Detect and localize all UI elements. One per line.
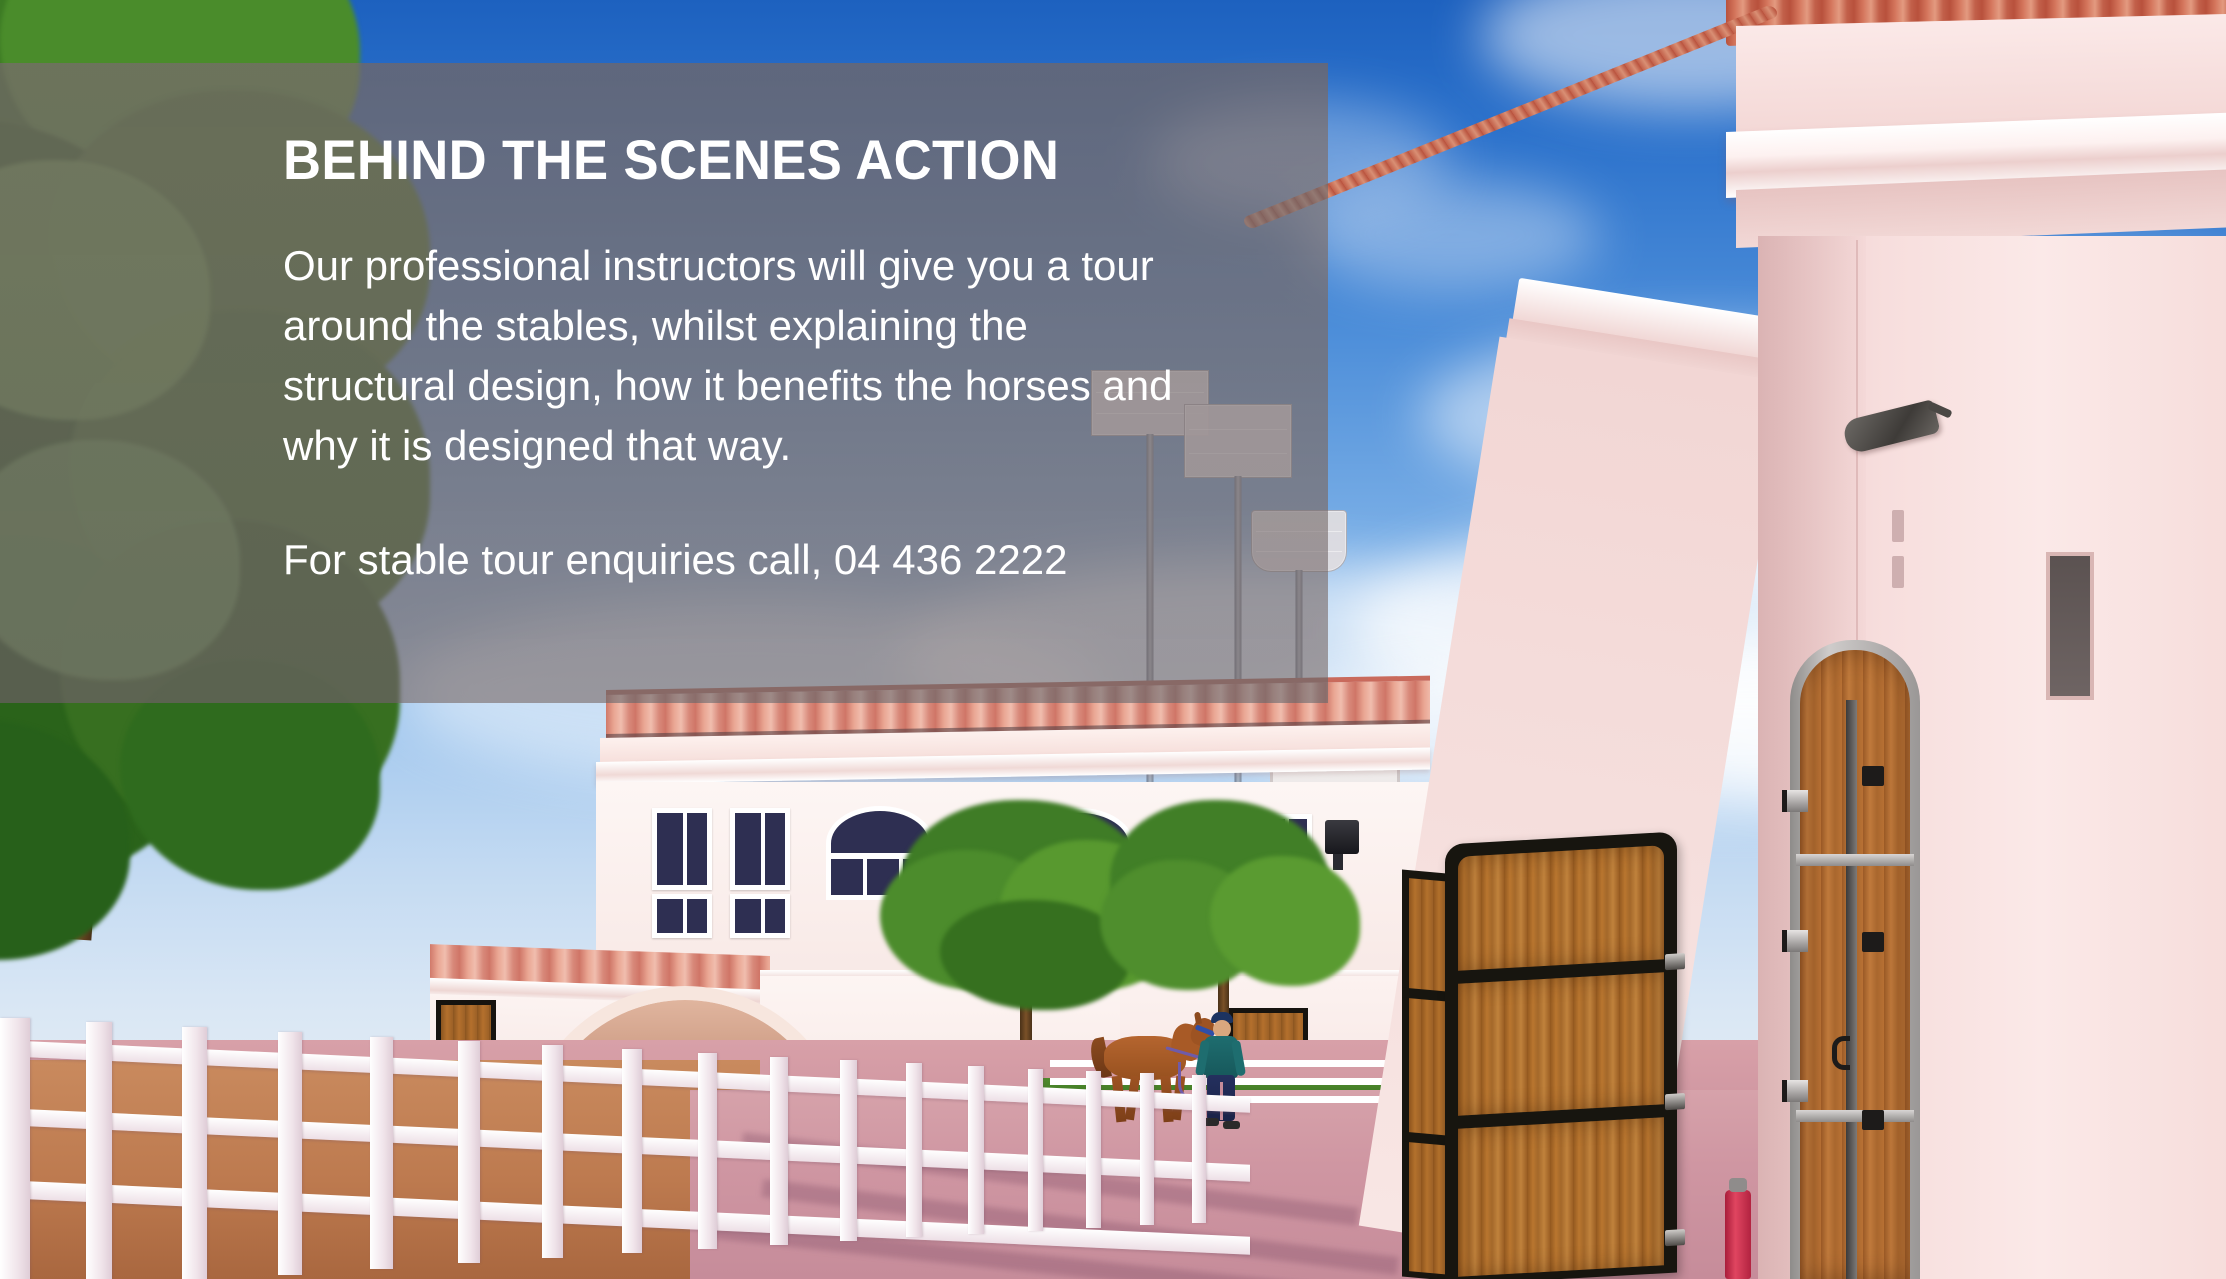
door-hinge bbox=[1782, 1080, 1808, 1102]
door-bracket bbox=[1862, 932, 1884, 952]
door-bracket bbox=[1862, 766, 1884, 786]
fire-extinguisher-icon bbox=[1725, 1190, 1751, 1279]
wall-vent bbox=[1892, 510, 1904, 542]
window bbox=[652, 894, 712, 938]
window bbox=[730, 894, 790, 938]
gate-latch bbox=[1665, 1093, 1685, 1110]
contact-line: For stable tour enquiries call, 04 436 2… bbox=[283, 530, 1283, 590]
gate-latch bbox=[1665, 953, 1685, 970]
gate-wood-panel bbox=[1458, 972, 1664, 1116]
door-handle bbox=[1832, 1036, 1850, 1070]
door-bracket bbox=[1862, 1110, 1884, 1130]
arched-stable-door bbox=[1790, 640, 1920, 1279]
door-hinge bbox=[1782, 790, 1808, 812]
white-fence bbox=[0, 1000, 1250, 1279]
overlay-content: BEHIND THE SCENES ACTION Our professiona… bbox=[283, 63, 1283, 590]
window bbox=[730, 808, 790, 890]
upper-window-right bbox=[2050, 556, 2090, 696]
door-stile bbox=[1846, 700, 1857, 1279]
page-title: BEHIND THE SCENES ACTION bbox=[283, 130, 1223, 190]
door-hinge bbox=[1782, 930, 1808, 952]
gate-latch bbox=[1665, 1229, 1685, 1246]
promo-banner: BEHIND THE SCENES ACTION Our professiona… bbox=[0, 0, 2226, 1279]
door-rail bbox=[1796, 1110, 1914, 1122]
wooden-swing-gate bbox=[1445, 832, 1677, 1279]
door-rail bbox=[1796, 854, 1914, 866]
window bbox=[652, 808, 712, 890]
gate-wood-panel bbox=[1458, 1117, 1664, 1277]
gate-wood-panel bbox=[1458, 845, 1664, 971]
wall-vent bbox=[1892, 556, 1904, 588]
description-text: Our professional instructors will give y… bbox=[283, 236, 1183, 476]
